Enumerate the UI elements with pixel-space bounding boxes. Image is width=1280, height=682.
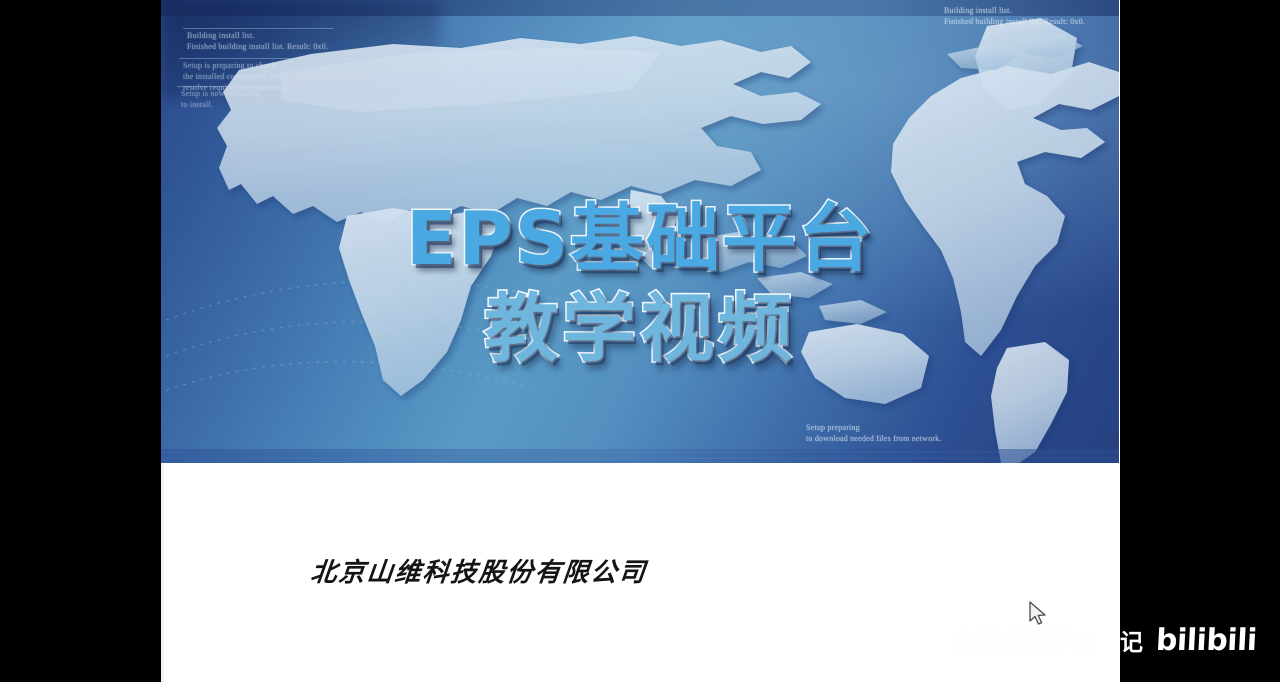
watermark-faint-text: 在线课堂学习: [952, 623, 1096, 657]
bilibili-watermark: 在线课堂学习 日记 bilibili: [952, 620, 1257, 660]
watermark-visible-text: 日记: [1096, 623, 1144, 657]
slide-bottom-band: [161, 449, 1119, 463]
company-name-text: 北京山维科技股份有限公司: [310, 552, 650, 589]
video-player-stage: Building install list. Finished building…: [0, 0, 1280, 682]
slide-decor-text-topleft: Building install list. Finished building…: [187, 30, 417, 52]
slide-decor-text-topright: Building install list. Finished building…: [944, 5, 1119, 27]
slide-decor-text-topleft-3: Setup is now preparing to install.: [181, 88, 411, 110]
letterbox-bar-left: [0, 0, 161, 682]
decor-rule-1: [183, 28, 333, 29]
bilibili-logo: bilibili: [1155, 623, 1257, 658]
bilibili-logo-text: bilibili: [1155, 623, 1257, 658]
decor-rule-2: [179, 58, 359, 59]
decor-rule-3: [177, 86, 337, 87]
letterbox-bar-right: [1120, 0, 1280, 682]
slide-decor-text-bottom: Setup preparing to download needed files…: [806, 422, 1046, 444]
presentation-slide: Building install list. Finished building…: [161, 0, 1119, 463]
